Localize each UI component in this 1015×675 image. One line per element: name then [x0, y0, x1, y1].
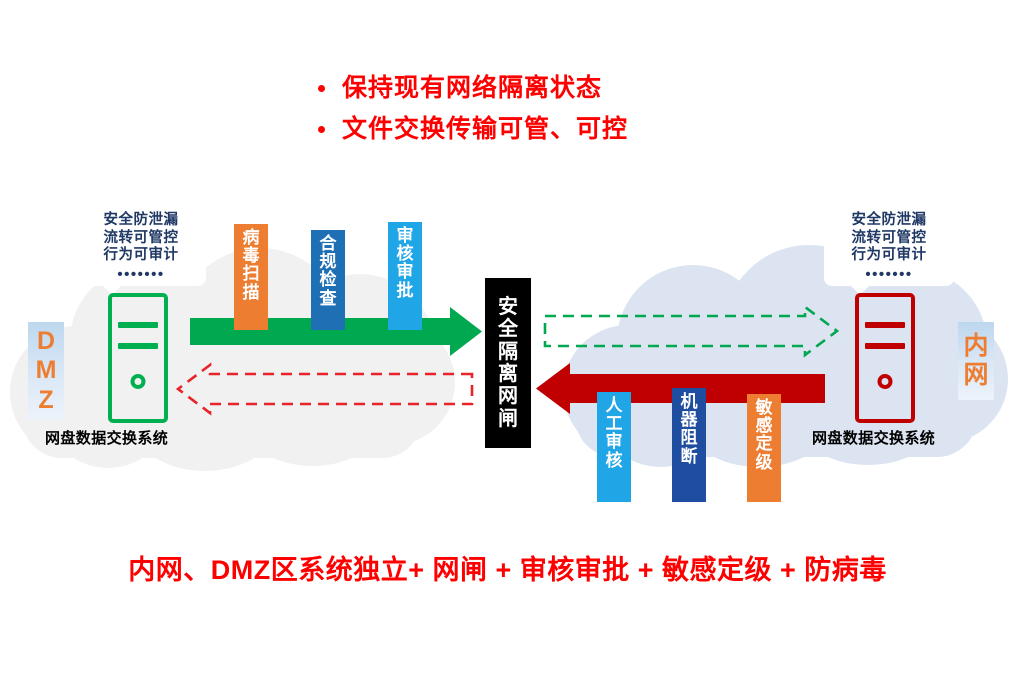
- chip-char: 敏: [756, 399, 773, 417]
- dmz-letter: D: [37, 327, 55, 357]
- chip-char: 合: [320, 235, 337, 253]
- chip-char: 机: [681, 393, 698, 411]
- intranet-callout-line: 安全防泄漏: [832, 212, 946, 230]
- dmz-callout-bubble: 安全防泄漏 流转可管控 行为可审计 •••••••: [76, 206, 206, 286]
- intranet-server-icon: [855, 293, 915, 423]
- chip-char: 感: [756, 417, 773, 435]
- chip-char: 扫: [243, 265, 260, 283]
- chip-char: 检: [320, 271, 337, 289]
- bullet-dot-icon: [318, 126, 325, 133]
- intranet-system-label: 网盘数据交换系统: [812, 427, 935, 448]
- chip-machine-block: 机 器 阻 断: [672, 388, 706, 502]
- summary-text: 内网、DMZ区系统独立+ 网闸 + 审核审批 + 敏感定级 + 防病毒: [0, 548, 1015, 587]
- gateway-char: 闸: [498, 408, 518, 430]
- chip-virus-scan: 病 毒 扫 描: [234, 224, 268, 330]
- chip-char: 核: [606, 452, 623, 470]
- bullet-dot-icon: [318, 85, 325, 92]
- chip-char: 阻: [681, 429, 698, 447]
- chip-manual-review: 人 工 审 核: [597, 392, 631, 502]
- intranet-zone-chip: 内 网: [958, 322, 994, 400]
- intranet-callout-line: 流转可管控: [832, 230, 946, 248]
- dmz-callout-line: 安全防泄漏: [84, 212, 198, 230]
- bullet-item: 保持现有网络隔离状态: [318, 76, 628, 101]
- bullet-item: 文件交换传输可管、可控: [318, 117, 628, 142]
- intranet-callout-line: 行为可审计: [832, 247, 946, 265]
- dmz-server-icon: [108, 293, 168, 423]
- chip-char: 核: [397, 245, 414, 263]
- intranet-char: 网: [963, 361, 988, 391]
- bullet-text: 文件交换传输可管、可控: [342, 117, 628, 142]
- gateway-char: 隔: [498, 341, 518, 363]
- dmz-system-label: 网盘数据交换系统: [45, 427, 168, 448]
- bullet-text: 保持现有网络隔离状态: [342, 76, 602, 101]
- chip-char: 病: [243, 229, 260, 247]
- chip-char: 工: [606, 415, 623, 433]
- chip-char: 批: [397, 282, 414, 300]
- diagram-canvas: 保持现有网络隔离状态 文件交换传输可管、可控: [0, 0, 1015, 675]
- dmz-callout-line: 流转可管控: [84, 230, 198, 248]
- gateway-char: 安: [498, 296, 518, 318]
- bullet-list: 保持现有网络隔离状态 文件交换传输可管、可控: [318, 76, 628, 158]
- security-gateway-box: 安 全 隔 离 网 闸: [485, 278, 531, 448]
- intranet-callout-bubble: 安全防泄漏 流转可管控 行为可审计 •••••••: [824, 206, 954, 286]
- intranet-callout-dots: •••••••: [832, 267, 946, 282]
- chip-char: 规: [320, 253, 337, 271]
- gateway-char: 全: [498, 318, 518, 340]
- dmz-zone-chip: D M Z: [28, 322, 64, 420]
- intranet-char: 内: [963, 332, 988, 362]
- chip-char: 审: [397, 227, 414, 245]
- gateway-char: 网: [498, 385, 518, 407]
- chip-char: 审: [397, 263, 414, 281]
- chip-char: 人: [606, 397, 623, 415]
- dmz-letter: M: [36, 356, 57, 386]
- chip-char: 审: [606, 433, 623, 451]
- dmz-callout-line: 行为可审计: [84, 247, 198, 265]
- chip-review-approval: 审 核 审 批: [388, 222, 422, 330]
- chip-char: 器: [681, 411, 698, 429]
- dmz-callout-dots: •••••••: [84, 267, 198, 282]
- chip-compliance-check: 合 规 检 查: [311, 230, 345, 330]
- chip-char: 断: [681, 448, 698, 466]
- chip-char: 定: [756, 435, 773, 453]
- chip-char: 描: [243, 284, 260, 302]
- chip-char: 毒: [243, 247, 260, 265]
- chip-char: 查: [320, 290, 337, 308]
- gateway-char: 离: [498, 363, 518, 385]
- dmz-letter: Z: [38, 386, 53, 416]
- chip-char: 级: [756, 454, 773, 472]
- chip-sensitivity-grading: 敏 感 定 级: [747, 394, 781, 502]
